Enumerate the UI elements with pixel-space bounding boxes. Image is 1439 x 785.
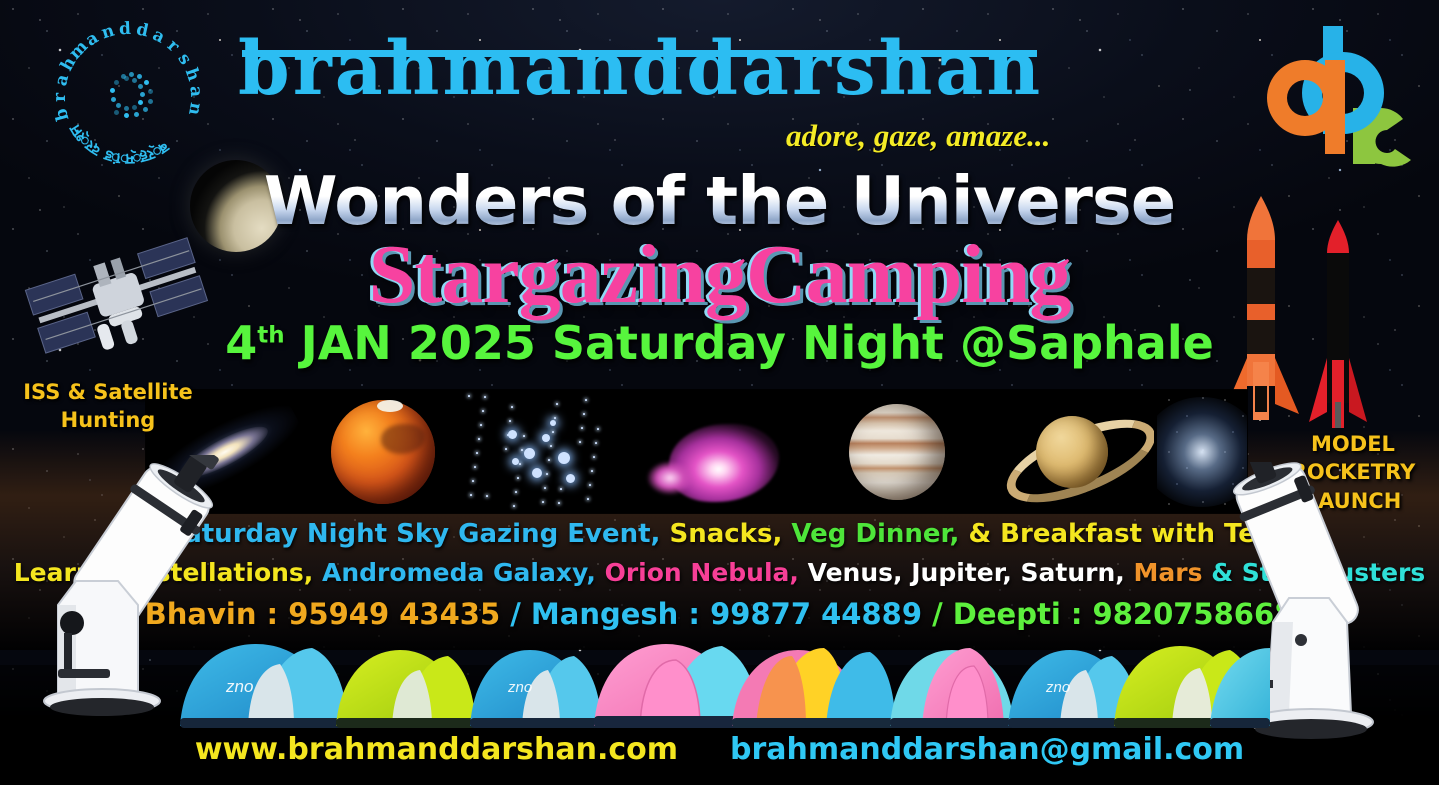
background-star — [585, 399, 587, 401]
circular-logo-glyph: n — [99, 20, 117, 43]
cluster-star — [512, 458, 519, 465]
background-star — [480, 424, 482, 426]
cluster-star — [550, 420, 556, 426]
strip-image-mars — [307, 390, 459, 513]
cluster-star — [542, 434, 550, 442]
circular-logo-glyph: a — [149, 24, 168, 47]
background-star — [515, 491, 517, 493]
brand-wordmark-text: brahmanddarshan — [238, 26, 1043, 112]
background-star — [587, 498, 589, 500]
background-star — [591, 470, 593, 472]
circular-logo-glyph: r — [50, 92, 70, 101]
background-star — [517, 477, 519, 479]
background-star — [552, 431, 554, 433]
circular-logo-glyph: h — [181, 65, 204, 83]
background-star — [511, 406, 513, 408]
footer-contact: www.brahmanddarshan.com brahmanddarshan@… — [0, 732, 1439, 767]
cluster-star — [532, 468, 542, 478]
background-star — [589, 484, 591, 486]
cluster-star — [524, 448, 535, 459]
background-star — [486, 495, 488, 497]
orange-model-rocket — [1223, 196, 1299, 420]
details-line1-run-1: Snacks, — [660, 519, 782, 549]
background-star — [548, 459, 550, 461]
details-line2-run-4: Mars — [1125, 558, 1203, 587]
background-star — [505, 448, 507, 450]
background-star — [544, 487, 546, 489]
background-star — [507, 434, 509, 436]
background-star — [509, 420, 511, 422]
background-star — [519, 463, 521, 465]
cluster-star — [558, 452, 570, 464]
camping-tents-row: zno zno — [170, 622, 1270, 732]
background-star — [484, 396, 486, 398]
background-star — [468, 395, 470, 397]
brand-tagline: adore, gaze, amaze... — [786, 118, 1050, 154]
iss-illustration — [18, 222, 218, 372]
tent-lime-1 — [336, 650, 476, 728]
cluster-star — [508, 430, 517, 439]
circular-logo-glyph: r — [163, 35, 183, 56]
background-star — [476, 452, 478, 454]
background-star — [583, 413, 585, 415]
background-star — [597, 428, 599, 430]
footer-website[interactable]: www.brahmanddarshan.com — [195, 732, 678, 767]
background-star — [472, 480, 474, 482]
strip-image-orion-nebula — [621, 390, 804, 513]
background-star — [550, 445, 552, 447]
background-star — [513, 505, 515, 507]
svg-text:zno: zno — [507, 679, 532, 696]
details-line1-run-0: Saturday Night Sky Gazing Event, — [165, 519, 660, 549]
circular-logo-glyph: n — [184, 100, 206, 116]
tent-blue-2: zno — [470, 650, 602, 728]
strip-image-jupiter — [807, 390, 987, 513]
background-star — [556, 403, 558, 405]
background-star — [478, 438, 480, 440]
background-star — [474, 466, 476, 468]
circular-logo-glyph: a — [185, 85, 206, 98]
background-star — [595, 442, 597, 444]
circular-logo-text: brahmanddarshanब्रह्मांड दर्शन — [28, 14, 228, 179]
tent-blue-1: zno — [180, 644, 348, 728]
tent-pink-2 — [890, 648, 1014, 728]
strip-image-saturn — [990, 390, 1154, 513]
abc-logo — [1263, 16, 1423, 171]
background-star — [593, 456, 595, 458]
background-star — [470, 494, 472, 496]
circular-logo-glyph: s — [173, 49, 195, 68]
background-star — [558, 502, 560, 504]
background-star — [581, 427, 583, 429]
details-line2-run-1: Andromeda Galaxy, — [313, 558, 596, 587]
cluster-star — [566, 474, 575, 483]
brand-wordmark: brahmanddarshan — [238, 34, 1043, 104]
footer-email[interactable]: brahmanddarshan@gmail.com — [730, 732, 1244, 767]
background-star — [482, 410, 484, 412]
caption-left-line2: Hunting — [8, 406, 208, 434]
circular-brand-logo: brahmanddarshanब्रह्मांड दर्शन — [28, 14, 228, 179]
circular-logo-glyph: d — [134, 19, 150, 41]
details-line2-run-3: Venus, Jupiter, Saturn, — [799, 558, 1125, 587]
background-star — [542, 501, 544, 503]
circular-logo-glyph: b — [51, 106, 73, 123]
details-line1-run-2: Veg Dinner, — [782, 519, 959, 549]
background-star — [554, 417, 556, 419]
svg-text:zno: zno — [1045, 679, 1070, 696]
strip-image-pleiades-star-cluster — [462, 390, 618, 513]
circular-logo-glyph: d — [119, 18, 132, 38]
caption-right-line1: MODEL — [1273, 430, 1433, 458]
devanagari-headline-bar — [242, 50, 1037, 57]
event-poster: brahmanddarshanब्रह्मांड दर्शन brahmandd… — [0, 0, 1439, 785]
background-star — [579, 441, 581, 443]
background-star — [523, 435, 525, 437]
astro-photo-strip — [146, 390, 1247, 513]
details-line2-run-2: Orion Nebula, — [596, 558, 799, 587]
caption-iss-satellite-hunting: ISS & Satellite Hunting — [8, 378, 208, 435]
background-star — [521, 449, 523, 451]
caption-left-line1: ISS & Satellite — [8, 378, 208, 406]
svg-text:zno: zno — [225, 677, 253, 696]
tent-rainbow — [732, 648, 898, 728]
circular-logo-glyph: a — [51, 72, 73, 88]
background-star — [546, 473, 548, 475]
black-model-rocket — [1309, 220, 1367, 428]
background-star — [560, 488, 562, 490]
